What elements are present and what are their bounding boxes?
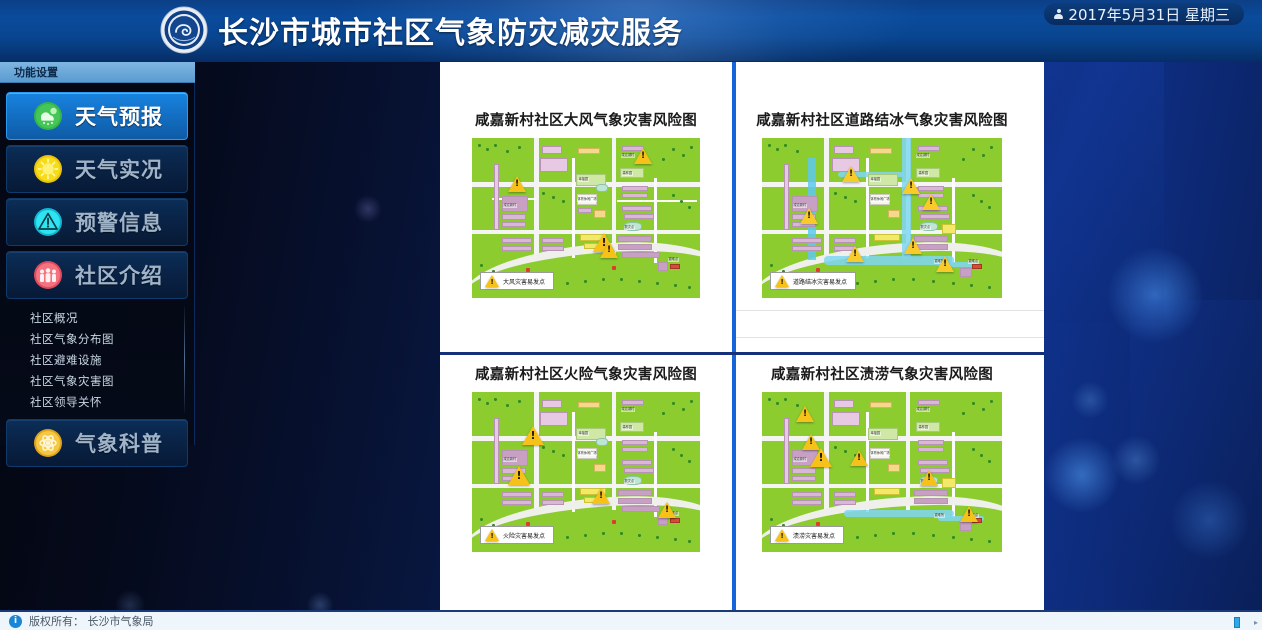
hazard-marker[interactable] [508, 176, 526, 192]
hazard-marker[interactable] [846, 246, 864, 262]
hazard-marker[interactable] [508, 466, 530, 485]
date-display: 2017年5月31日 星期三 [1044, 3, 1244, 25]
weather-bureau-seal-icon [160, 6, 208, 54]
warning-triangle-icon [775, 529, 789, 541]
map-title: 咸嘉新村社区大风气象灾害风险图 [440, 62, 732, 130]
sidebar-item-weather-science[interactable]: 气象科普 [6, 419, 188, 467]
map-label: 救灾点 [920, 226, 931, 230]
community-hazard-map[interactable]: 咸嘉湖村 咸嘉新村 幸福园 森林园 体育休闲广场 救灾点 避难点 [472, 138, 700, 298]
warning-triangle-icon [485, 275, 499, 287]
hazard-map-grid-panel: 咸嘉新村社区大风气象灾害风险图 [440, 62, 1044, 610]
hazard-map-card-road-ice: 咸嘉新村社区道路结冰气象灾害风险图 [736, 62, 1028, 298]
map-label: 咸嘉湖村 [916, 154, 930, 158]
hazard-marker[interactable] [592, 488, 610, 504]
legend-label: 道路结冰灾害易发点 [793, 277, 847, 286]
map-legend: 渍涝灾害易发点 [770, 526, 844, 544]
submenu-item-community-overview[interactable]: 社区概况 [6, 307, 188, 328]
map-label: 幸福园 [578, 178, 589, 182]
map-label: 幸福园 [870, 178, 881, 182]
sidebar-item-label: 社区介绍 [75, 260, 163, 290]
submenu-item-hazard-map[interactable]: 社区气象灾害图 [6, 370, 188, 391]
map-label: 幸福园 [870, 432, 881, 436]
map-legend: 道路结冰灾害易发点 [770, 272, 856, 290]
map-label: 咸嘉湖村 [621, 154, 635, 158]
user-icon [1054, 9, 1063, 20]
warning-triangle-icon [775, 275, 789, 287]
copyright-text: 版权所有： 长沙市气象局 [29, 613, 154, 629]
sun-icon [33, 154, 63, 184]
submenu-item-weather-distribution-map[interactable]: 社区气象分布图 [6, 328, 188, 349]
map-label: 咸嘉新村 [793, 458, 807, 462]
hazard-marker[interactable] [922, 194, 940, 210]
map-title: 咸嘉新村社区渍涝气象灾害风险图 [736, 355, 1028, 384]
divider [736, 310, 1044, 311]
scrollbar-thumb[interactable] [1234, 617, 1240, 628]
map-legend: 火险灾害易发点 [480, 526, 554, 544]
map-label: 森林园 [918, 172, 929, 176]
sidebar-item-weather-live[interactable]: 天气实况 [6, 145, 188, 193]
hazard-marker[interactable] [960, 506, 978, 522]
hazard-marker[interactable] [902, 178, 920, 194]
sidebar-panel-header: 功能设置 [0, 62, 195, 83]
hazard-marker[interactable] [850, 450, 868, 466]
sidebar: 功能设置 天气预报 [0, 62, 195, 445]
footer-bar: i 版权所有： 长沙市气象局 ▸ [0, 610, 1262, 630]
legend-label: 火险灾害易发点 [503, 531, 545, 540]
hazard-map-card-waterlogging: 咸嘉新村社区渍涝气象灾害风险图 [736, 355, 1028, 552]
map-label: 咸嘉湖村 [621, 408, 635, 412]
community-group-icon [33, 260, 63, 290]
submenu-item-leader-care[interactable]: 社区领导关怀 [6, 391, 188, 412]
sidebar-item-community-intro[interactable]: 社区介绍 [6, 251, 188, 299]
hazard-marker[interactable] [796, 406, 814, 422]
hazard-marker[interactable] [936, 256, 954, 272]
hazard-marker[interactable] [634, 148, 652, 164]
map-title: 咸嘉新村社区道路结冰气象灾害风险图 [736, 62, 1028, 130]
community-hazard-map[interactable]: 咸嘉湖村 咸嘉新村 幸福园 森林园 体育休闲广场 救灾点 避难所 避难点 [762, 392, 1002, 552]
map-label: 咸嘉湖村 [916, 408, 930, 412]
hazard-map-card-gale: 咸嘉新村社区大风气象灾害风险图 [440, 62, 732, 298]
hazard-marker[interactable] [842, 166, 860, 182]
date-text: 2017年5月31日 星期三 [1068, 4, 1230, 25]
sidebar-item-alert-info[interactable]: 预警信息 [6, 198, 188, 246]
map-label: 森林园 [622, 426, 633, 430]
map-label: 体育休闲广场 [577, 198, 597, 202]
map-label: 咸嘉新村 [793, 204, 807, 208]
map-legend: 大风灾害易发点 [480, 272, 554, 290]
divider [736, 337, 1044, 338]
legend-label: 渍涝灾害易发点 [793, 531, 835, 540]
bg-facet [1044, 62, 1164, 322]
map-label: 避难点 [668, 258, 679, 262]
hazard-marker[interactable] [904, 238, 922, 254]
application-window: 长沙市城市社区气象防灾减灾服务 2017年5月31日 星期三 功能设置 [0, 0, 1262, 630]
hazard-marker[interactable] [800, 208, 818, 224]
hazard-marker[interactable] [522, 426, 544, 445]
hazard-marker[interactable] [600, 242, 618, 258]
warning-triangle-icon [33, 207, 63, 237]
page-title: 长沙市城市社区气象防灾减灾服务 [218, 8, 683, 52]
map-label: 幸福园 [578, 432, 589, 436]
map-label: 救灾点 [624, 480, 635, 484]
bg-facet [1130, 300, 1262, 610]
submenu-item-shelter-facilities[interactable]: 社区避难设施 [6, 349, 188, 370]
hazard-map-card-fire-risk: 咸嘉新村社区火险气象灾害风险图 [440, 355, 732, 552]
cloud-rain-icon [33, 101, 63, 131]
hazard-marker[interactable] [810, 448, 832, 467]
map-label: 森林园 [918, 426, 929, 430]
legend-label: 大风灾害易发点 [503, 277, 545, 286]
atom-icon [33, 428, 63, 458]
community-hazard-map[interactable]: 咸嘉湖村 咸嘉新村 幸福园 森林园 体育休闲广场 救灾点 避难点 [472, 392, 700, 552]
app-header: 长沙市城市社区气象防灾减灾服务 2017年5月31日 星期三 [0, 0, 1262, 62]
map-label: 体育休闲广场 [870, 452, 890, 456]
sidebar-nav: 天气预报 天气实况 [0, 83, 194, 467]
map-label: 避难所 [934, 514, 945, 518]
info-icon: i [9, 615, 22, 628]
horizontal-divider [440, 352, 1044, 355]
community-hazard-map[interactable]: 咸嘉湖村 咸嘉新村 幸福园 森林园 体育休闲广场 救灾点 避难所 避难点 [762, 138, 1002, 298]
map-label: 咸嘉新村 [503, 458, 517, 462]
hazard-marker[interactable] [658, 502, 676, 518]
map-label: 避难点 [968, 260, 979, 264]
vertical-divider [732, 62, 736, 610]
sidebar-item-weather-forecast[interactable]: 天气预报 [6, 92, 188, 140]
sidebar-item-label: 预警信息 [75, 207, 163, 237]
chevron-right-icon[interactable]: ▸ [1254, 618, 1258, 627]
sidebar-item-label: 天气预报 [75, 101, 163, 131]
hazard-marker[interactable] [920, 470, 938, 486]
map-label: 救灾点 [624, 226, 635, 230]
warning-triangle-icon [485, 529, 499, 541]
map-label: 体育休闲广场 [577, 452, 597, 456]
map-label: 森林园 [622, 172, 633, 176]
sidebar-submenu: 社区概况 社区气象分布图 社区避难设施 社区气象灾害图 社区领导关怀 [6, 304, 188, 415]
sidebar-item-label: 天气实况 [75, 154, 163, 184]
map-title: 咸嘉新村社区火险气象灾害风险图 [440, 355, 732, 384]
sidebar-item-label: 气象科普 [75, 428, 163, 458]
map-label: 咸嘉新村 [503, 204, 517, 208]
sidebar-panel-title: 功能设置 [0, 64, 58, 80]
map-label: 体育休闲广场 [870, 198, 890, 202]
